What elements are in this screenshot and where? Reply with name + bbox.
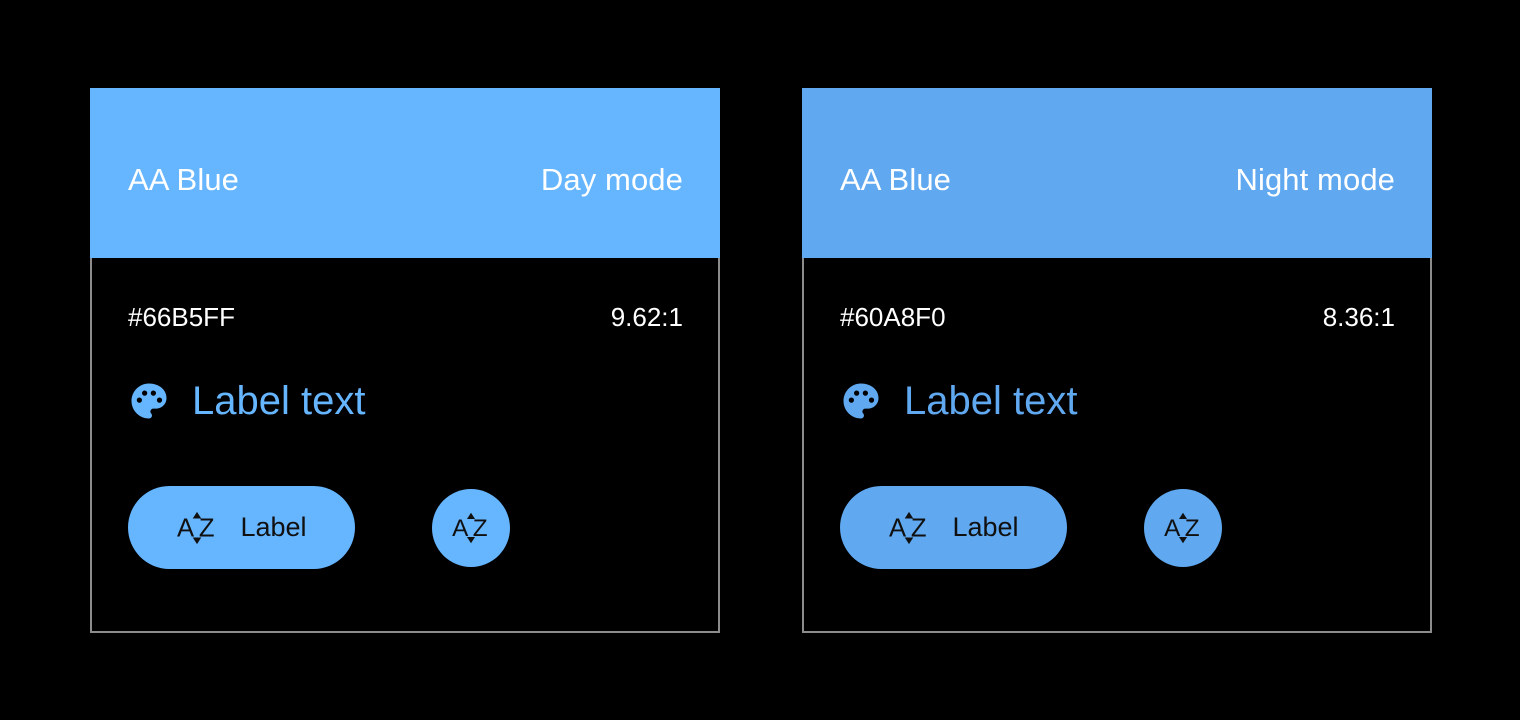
sort-fab-button-night[interactable]: A Z [1144,489,1222,567]
mode-label-night: Night mode [1235,164,1395,195]
svg-text:Z: Z [199,514,215,542]
sort-label-button-night[interactable]: A Z Label [840,486,1067,569]
sort-fab-button-day[interactable]: A Z [432,489,510,567]
hex-value-day: #66B5FF [128,304,235,330]
svg-text:A: A [178,514,196,542]
svg-text:Z: Z [1185,515,1200,542]
sort-button-label-night: Label [952,514,1018,541]
sort-alpha-az-icon: A Z [1163,510,1203,546]
card-header-day: AA Blue Day mode [90,88,720,258]
color-preview-card-day: AA Blue Day mode #66B5FF 9.62:1 Label te… [90,88,720,633]
button-row-day: A Z Label A Z [128,486,510,569]
card-body-night: #60A8F0 8.36:1 Label text A Z [802,258,1432,633]
sort-label-button-day[interactable]: A Z Label [128,486,355,569]
preview-stage: AA Blue Day mode #66B5FF 9.62:1 Label te… [0,0,1520,720]
card-body-day: #66B5FF 9.62:1 Label text A Z [90,258,720,633]
sort-alpha-az-icon: A Z [451,510,491,546]
contrast-ratio-night: 8.36:1 [1323,304,1395,330]
mode-label-day: Day mode [541,164,683,195]
sort-button-label-day: Label [240,514,306,541]
svg-text:A: A [890,514,908,542]
label-text-row-night: Label text [840,380,1077,422]
card-title-night: AA Blue [840,164,951,195]
color-preview-card-night: AA Blue Night mode #60A8F0 8.36:1 Label … [802,88,1432,633]
label-text-row-day: Label text [128,380,365,422]
palette-icon [840,380,882,422]
contrast-ratio-day: 9.62:1 [611,304,683,330]
color-meta-row-day: #66B5FF 9.62:1 [92,300,718,334]
card-header-night: AA Blue Night mode [802,88,1432,258]
hex-value-night: #60A8F0 [840,304,946,330]
svg-text:A: A [452,515,469,542]
sort-alpha-az-icon: A Z [888,509,930,547]
color-meta-row-night: #60A8F0 8.36:1 [804,300,1430,334]
button-row-night: A Z Label A Z [840,486,1222,569]
card-title-day: AA Blue [128,164,239,195]
svg-text:Z: Z [911,514,927,542]
label-text-day: Label text [192,381,365,421]
svg-text:Z: Z [473,515,488,542]
palette-icon [128,380,170,422]
svg-text:A: A [1164,515,1181,542]
label-text-night: Label text [904,381,1077,421]
sort-alpha-az-icon: A Z [176,509,218,547]
